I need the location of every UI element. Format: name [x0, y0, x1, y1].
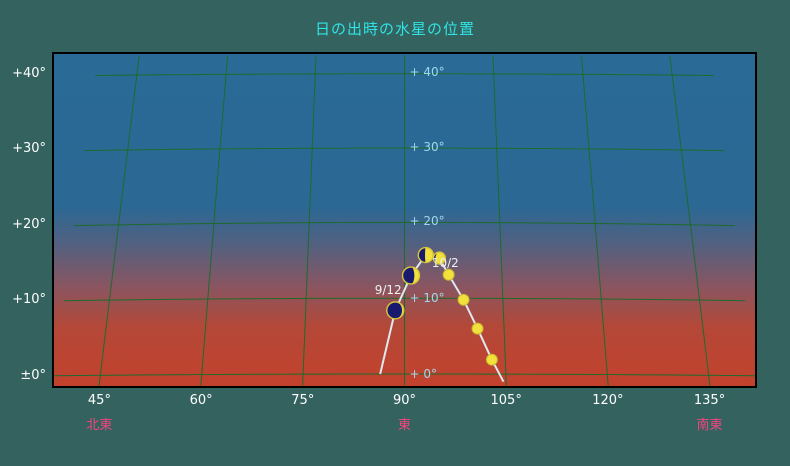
- y-axis-tick-2: +20°: [0, 217, 46, 232]
- x-axis-tick-4: 105°: [476, 393, 536, 408]
- direction-label-2: 南東: [680, 414, 740, 433]
- inner-altitude-label-0: + 40°: [410, 65, 445, 79]
- y-axis-tick-0: +40°: [0, 66, 46, 81]
- inner-altitude-label-2: + 20°: [410, 214, 445, 228]
- date-annotation-1: 10/2: [432, 256, 459, 270]
- direction-label-1: 東: [375, 414, 435, 433]
- planet-marker: [486, 354, 497, 365]
- y-axis-tick-3: +10°: [0, 292, 46, 307]
- inner-altitude-label-3: + 10°: [410, 291, 445, 305]
- x-axis-tick-6: 135°: [680, 393, 740, 408]
- chart-stage: 日の出時の水星の位置 +40°+30°+20°+10°±0° 45°60°75°…: [0, 0, 790, 466]
- date-annotation-0: 9/12: [375, 283, 402, 297]
- chart-title: 日の出時の水星の位置: [0, 18, 790, 39]
- x-axis-tick-3: 90°: [375, 393, 435, 408]
- x-axis-tick-0: 45°: [69, 393, 129, 408]
- x-axis-tick-5: 120°: [578, 393, 638, 408]
- y-axis-tick-4: ±0°: [0, 368, 46, 383]
- planet-marker: [472, 323, 483, 334]
- plot-area: [52, 52, 757, 388]
- inner-altitude-label-4: + 0°: [410, 367, 438, 381]
- y-axis-tick-1: +30°: [0, 141, 46, 156]
- inner-altitude-label-1: + 30°: [410, 140, 445, 154]
- direction-label-0: 北東: [69, 414, 129, 433]
- x-axis-tick-1: 60°: [171, 393, 231, 408]
- planet-marker: [443, 269, 454, 280]
- sky-canvas: [53, 53, 756, 387]
- x-axis-tick-2: 75°: [273, 393, 333, 408]
- planet-marker: [458, 294, 469, 305]
